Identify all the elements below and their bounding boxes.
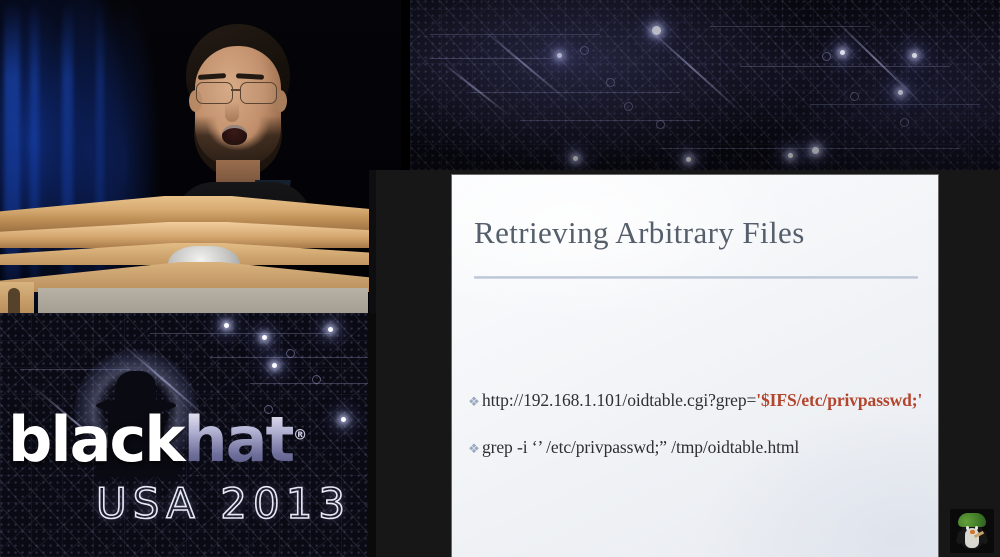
slide-title-divider	[474, 276, 918, 279]
circuit-pad	[312, 375, 321, 384]
speaker-camera-feed	[0, 0, 401, 313]
slide-bullet-item: ❖ http://192.168.1.101/oidtable.cgi?grep…	[466, 390, 926, 411]
mascot-hair	[958, 513, 986, 527]
slide-title: Retrieving Arbitrary Files	[474, 215, 805, 251]
presentation-slide: Retrieving Arbitrary Files ❖ http://192.…	[452, 175, 938, 557]
stage-wall-arch	[8, 288, 20, 313]
wordmark-hat: hat	[183, 403, 293, 476]
video-player-stage: blackhat® USA 2013 Retrieving Arbitrary …	[0, 0, 1000, 557]
mascot-eye	[975, 526, 978, 530]
bullet-marker-icon: ❖	[466, 442, 482, 455]
glasses-bridge	[231, 89, 240, 91]
bullet-fragment-injection: '$IFS/etc/privpasswd;'	[756, 390, 922, 410]
circuit-vignette	[410, 0, 1000, 172]
glasses-lens	[196, 82, 233, 104]
slide-capture-frame: Retrieving Arbitrary Files ❖ http://192.…	[376, 170, 1000, 557]
circuit-led	[262, 335, 267, 340]
bullet-marker-icon: ❖	[466, 395, 482, 408]
slide-bullet-item: ❖ grep -i ‘’ /etc/privpasswd;” /tmp/oidt…	[466, 437, 926, 458]
blackhat-edition-label: USA 2013	[96, 479, 351, 528]
wordmark-black: black	[8, 403, 183, 476]
registered-mark: ®	[293, 427, 305, 443]
bullet-text: grep -i ‘’ /etc/privpasswd;” /tmp/oidtab…	[482, 437, 799, 458]
slide-bullet-list: ❖ http://192.168.1.101/oidtable.cgi?grep…	[466, 390, 926, 484]
stage-light-streak	[96, 0, 104, 313]
stage-light-streak	[62, 0, 73, 313]
circuit-trace	[150, 333, 330, 334]
circuit-board-backdrop	[410, 0, 1000, 172]
circuit-led	[328, 327, 333, 332]
circuit-led	[224, 323, 229, 328]
podium-base	[38, 288, 368, 313]
circuit-trace	[250, 383, 370, 384]
stage-light-streak	[4, 0, 20, 313]
penguin-mascot-watermark	[950, 509, 994, 553]
circuit-led	[272, 363, 277, 368]
stage-light-streak	[30, 0, 39, 313]
blackhat-wordmark: blackhat®	[8, 409, 368, 471]
bullet-text: http://192.168.1.101/oidtable.cgi?grep='…	[482, 390, 922, 411]
bullet-fragment-url: http://192.168.1.101/oidtable.cgi?grep=	[482, 390, 756, 410]
mascot-beak	[970, 530, 975, 534]
blackhat-logo-panel: blackhat® USA 2013	[0, 313, 378, 557]
circuit-pad	[286, 349, 295, 358]
glasses-lens	[240, 82, 277, 104]
mascot-eye	[966, 526, 969, 530]
bullet-fragment-command: grep -i ‘’ /etc/privpasswd;” /tmp/oidtab…	[482, 437, 799, 457]
presenter-glasses	[192, 82, 286, 103]
